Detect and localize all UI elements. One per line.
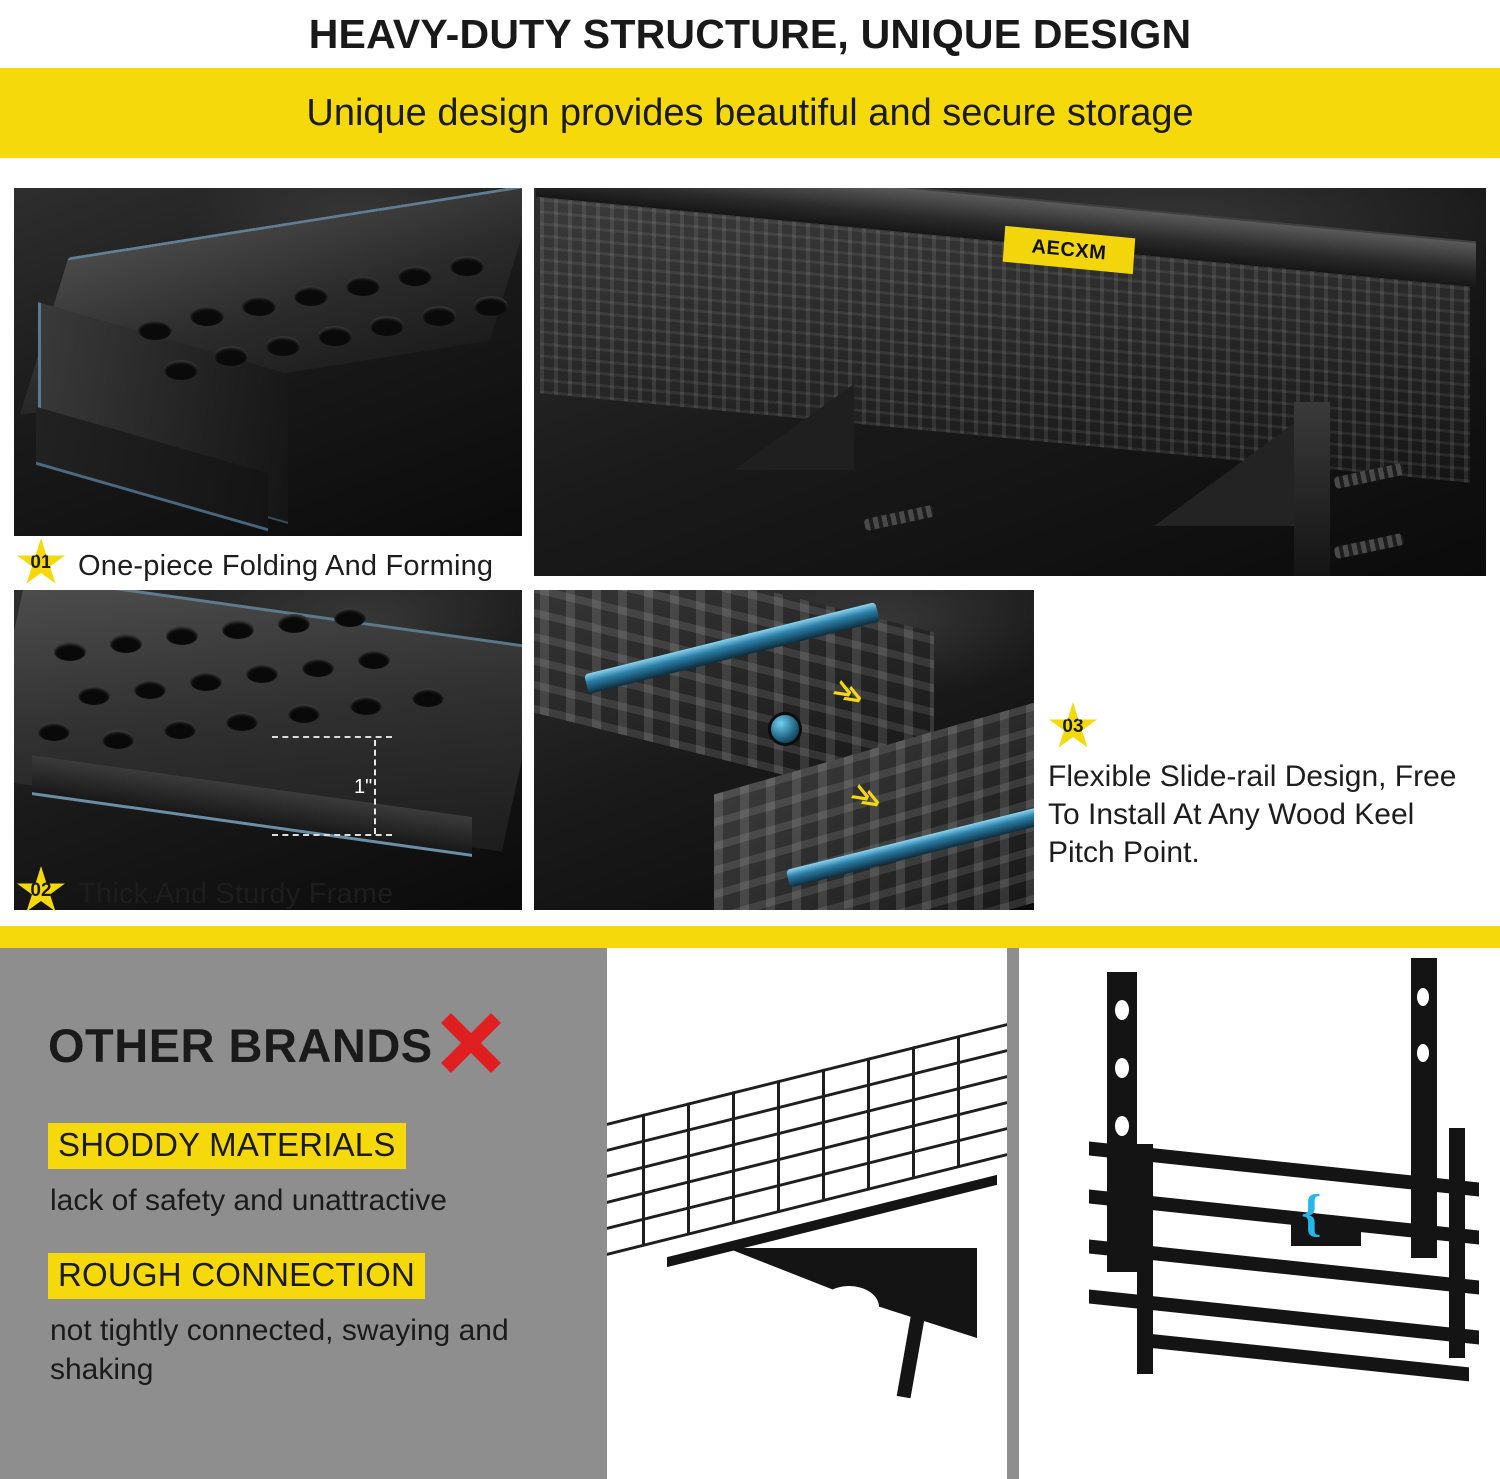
comparison-detail-2: not tightly connected, swaying and shaki… [50,1311,610,1389]
feature-number: 03 [1062,716,1083,738]
brand-name: AECXM [1031,235,1107,265]
product-infographic: HEAVY-DUTY STRUCTURE, UNIQUE DESIGN Uniq… [0,0,1500,1479]
x-mark-icon [438,1010,504,1076]
support-bracket-mid [734,384,854,470]
feature-number: 01 [30,552,51,574]
photo-competitor-wire-shelf [607,948,1007,1479]
blue-hook-icon: { [1301,1184,1322,1243]
rack-upright [1137,1144,1153,1374]
photo-thick-frame-corner: 1" [14,590,522,910]
page-title: HEAVY-DUTY STRUCTURE, UNIQUE DESIGN [0,0,1500,68]
feature-caption-01: One-piece Folding And Forming [78,550,493,583]
feature-badge-03: 03 [1048,702,1098,752]
rack-bar [1139,1333,1469,1382]
dimension-value: 1" [354,776,372,799]
header-subtitle-bar: Unique design provides beautiful and sec… [0,68,1500,158]
dimension-guide-bottom [272,834,392,836]
page-subtitle: Unique design provides beautiful and sec… [306,92,1193,135]
support-bracket-right [1154,416,1304,526]
comparison-heading-2: ROUGH CONNECTION [48,1253,425,1299]
rail-bolt [768,712,802,746]
gusset-hole [819,1286,879,1328]
photo-one-piece-channel [14,188,522,536]
feature-caption-03: Flexible Slide-rail Design, Free To Inst… [1048,758,1468,871]
dimension-line [374,740,376,834]
feature-badge-01: 01 [16,538,66,588]
photo-full-shelf: AECXM [534,188,1486,576]
dimension-guide-top [272,736,392,738]
rack-upright [1449,1128,1465,1358]
comparison-detail-1: lack of safety and unattractive [50,1181,610,1220]
comparison-title: OTHER BRANDS [48,1018,433,1073]
comparison-heading-1: SHODDY MATERIALS [48,1123,406,1169]
photo-slide-rail: >> >> [534,590,1034,910]
comparison-section: OTHER BRANDS SHODDY MATERIALS lack of sa… [0,948,1500,1479]
section-divider [0,926,1500,948]
feature-caption-02: Thick And Sturdy Frame [78,878,393,911]
wall-mount-plate [1294,402,1330,576]
photo-competitor-bar-rack: { [1019,948,1500,1479]
feature-photo-collage: 1" >> >> AECXM [0,166,1500,926]
